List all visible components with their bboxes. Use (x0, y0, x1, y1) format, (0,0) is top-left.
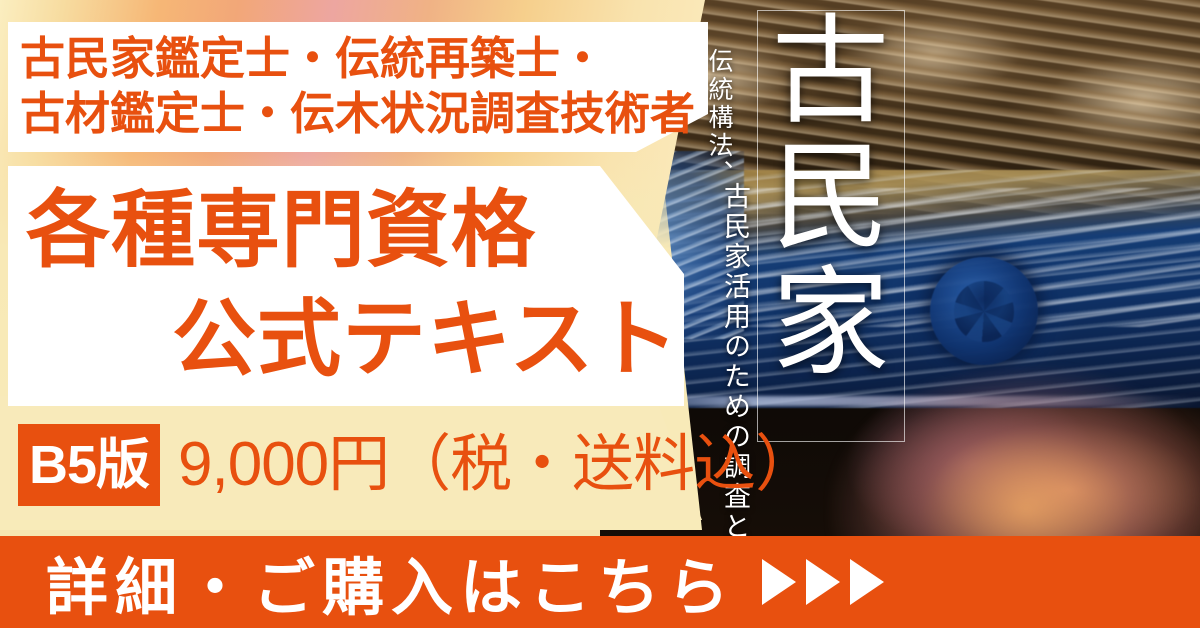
price-text: 9,000円（税・送料込） (178, 426, 816, 504)
family-crest-medallion (930, 257, 1038, 365)
promo-banner: 古民家 伝統構法、 古民家活用のための調査と再生の 古民家鑑定士・伝統再築士・ … (0, 0, 1200, 628)
qualifications-line-2: 古材鑑定士・伝木状況調査技術者 (20, 87, 720, 142)
chevron-right-icon (762, 559, 796, 605)
cta-arrows (762, 559, 884, 605)
format-badge: B5版 (18, 424, 160, 506)
headline-line-1: 各種専門資格 (14, 176, 694, 285)
cta-bar[interactable]: 詳細・ご購入はこちら (0, 536, 1200, 628)
cover-title: 古民家 (768, 8, 888, 386)
qualifications-text: 古民家鑑定士・伝統再築士・ 古材鑑定士・伝木状況調査技術者 (20, 32, 720, 142)
chevron-right-icon (850, 559, 884, 605)
headline-line-2: 公式テキスト (14, 285, 694, 394)
cta-label: 詳細・ご購入はこちら (46, 537, 736, 627)
qualifications-line-1: 古民家鑑定士・伝統再築士・ (20, 32, 720, 87)
chevron-right-icon (806, 559, 840, 605)
headline-text: 各種専門資格 公式テキスト (14, 176, 694, 394)
